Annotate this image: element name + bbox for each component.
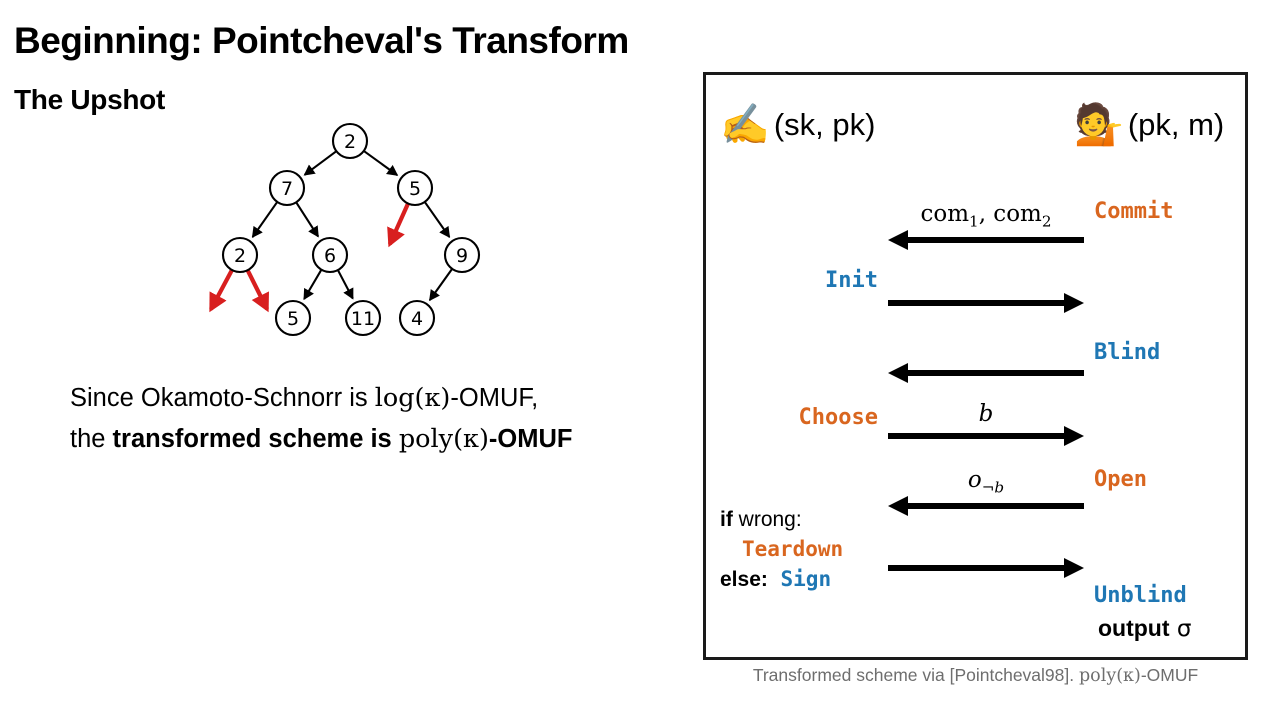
output-keyword: output (1098, 615, 1170, 641)
tree-edge (305, 151, 337, 175)
signer-note-wrong: wrong: (733, 508, 802, 531)
tree-node-label: 2 (344, 131, 356, 153)
protocol-step-init: Init (706, 268, 878, 293)
protocol-diagram-panel: ✍️ (sk, pk) 💁 (pk, m) CommitInitBlindCho… (703, 72, 1248, 660)
arrow-shaft (902, 237, 1084, 243)
tree-node-label: 5 (409, 178, 421, 200)
person-tipping-hand-icon: 💁 (1074, 105, 1124, 145)
upshot-line1-suffix: -OMUF, (450, 384, 538, 412)
caption-math: poly(κ) (1079, 666, 1141, 686)
writing-hand-icon: ✍️ (720, 105, 770, 145)
tree-edge (425, 202, 450, 237)
tree-edge (364, 151, 397, 175)
tree-red-arrow (248, 270, 268, 309)
upshot-line1-math: log(κ) (375, 383, 451, 413)
arrow-head-icon (1064, 293, 1084, 313)
user-keys-label: (pk, m) (1128, 107, 1224, 143)
arrow-shaft (888, 300, 1070, 306)
user-output-line: output σ (1098, 615, 1191, 642)
protocol-step-open: Open (1094, 467, 1147, 492)
tree-red-arrow (390, 204, 408, 245)
upshot-line2-bold: transformed scheme is (113, 425, 399, 453)
sigma-glyph: σ (1177, 616, 1192, 642)
upshot-line-2: the transformed scheme is poly(κ)-OMUF (70, 419, 690, 460)
blind-arrow (888, 370, 1084, 372)
tree-edge (296, 202, 318, 236)
tree-edge (430, 269, 452, 300)
open-arrow: o¬b (888, 503, 1084, 505)
signer-note-else: else: (720, 568, 768, 591)
teardown-label: Teardown (742, 537, 843, 561)
choose-arrow: b (888, 433, 1084, 435)
signer-branch-note: if wrong: Teardown else: Sign (720, 505, 843, 594)
page-title: Beginning: Pointcheval's Transform (14, 22, 629, 61)
arrow-head-icon (1064, 426, 1084, 446)
arrow-shaft (902, 370, 1084, 376)
upshot-line2-suffix: -OMUF (489, 425, 573, 453)
page-subtitle: The Upshot (14, 85, 165, 114)
output-sigma-symbol (1170, 616, 1177, 642)
user-party: 💁 (pk, m) (1074, 105, 1224, 145)
sign-arrow (888, 565, 1084, 567)
tree-edge (253, 202, 278, 237)
protocol-step-choose: Choose (706, 405, 878, 430)
caption-suffix: -OMUF (1141, 665, 1198, 685)
signer-party: ✍️ (sk, pk) (720, 105, 875, 145)
signer-note-line-3: else: Sign (720, 565, 843, 595)
tree-edge (338, 270, 353, 298)
sign-label: Sign (768, 567, 831, 591)
tree-red-arrow (211, 270, 232, 309)
tree-node-label: 11 (351, 308, 375, 330)
tree-node-group: 2752695114 (223, 124, 479, 335)
signer-note-if: if (720, 508, 733, 531)
tree-node-label: 7 (281, 178, 293, 200)
arrow-shaft (888, 565, 1070, 571)
upshot-line1-prefix: Since Okamoto-Schnorr is (70, 384, 375, 412)
signer-keys-label: (sk, pk) (774, 107, 876, 143)
init-arrow (888, 300, 1084, 302)
commit-arrow-caption: com1, com2 (888, 201, 1084, 231)
arrow-shaft (902, 503, 1084, 509)
arrow-shaft (888, 433, 1070, 439)
arrow-head-icon (888, 363, 908, 383)
upshot-line2-math: poly(κ) (399, 424, 489, 454)
caption-prefix: Transformed scheme via [Pointcheval98]. (753, 665, 1079, 685)
signer-note-line-1: if wrong: (720, 505, 843, 535)
open-arrow-caption: o¬b (888, 467, 1084, 497)
tree-node-label: 9 (456, 245, 468, 267)
commit-arrow: com1, com2 (888, 237, 1084, 239)
tree-node-label: 4 (411, 308, 423, 330)
arrow-head-icon (888, 496, 908, 516)
arrow-head-icon (888, 230, 908, 250)
tree-edge (304, 270, 321, 299)
signer-note-line-2: Teardown (720, 535, 843, 565)
upshot-line2-prefix: the (70, 425, 113, 453)
arrow-head-icon (1064, 558, 1084, 578)
choose-arrow-caption: b (888, 401, 1084, 427)
upshot-line-1: Since Okamoto-Schnorr is log(κ)-OMUF, (70, 378, 690, 419)
tree-node-label: 6 (324, 245, 336, 267)
protocol-step-blind: Blind (1094, 340, 1160, 365)
protocol-step-unblind: Unblind (1094, 583, 1187, 608)
upshot-statement: Since Okamoto-Schnorr is log(κ)-OMUF, th… (70, 378, 690, 460)
protocol-step-commit: Commit (1094, 199, 1173, 224)
binary-tree-figure: 2752695114 (200, 110, 520, 355)
tree-node-label: 2 (234, 245, 246, 267)
panel-caption: Transformed scheme via [Pointcheval98]. … (703, 665, 1248, 686)
tree-node-label: 5 (287, 308, 299, 330)
